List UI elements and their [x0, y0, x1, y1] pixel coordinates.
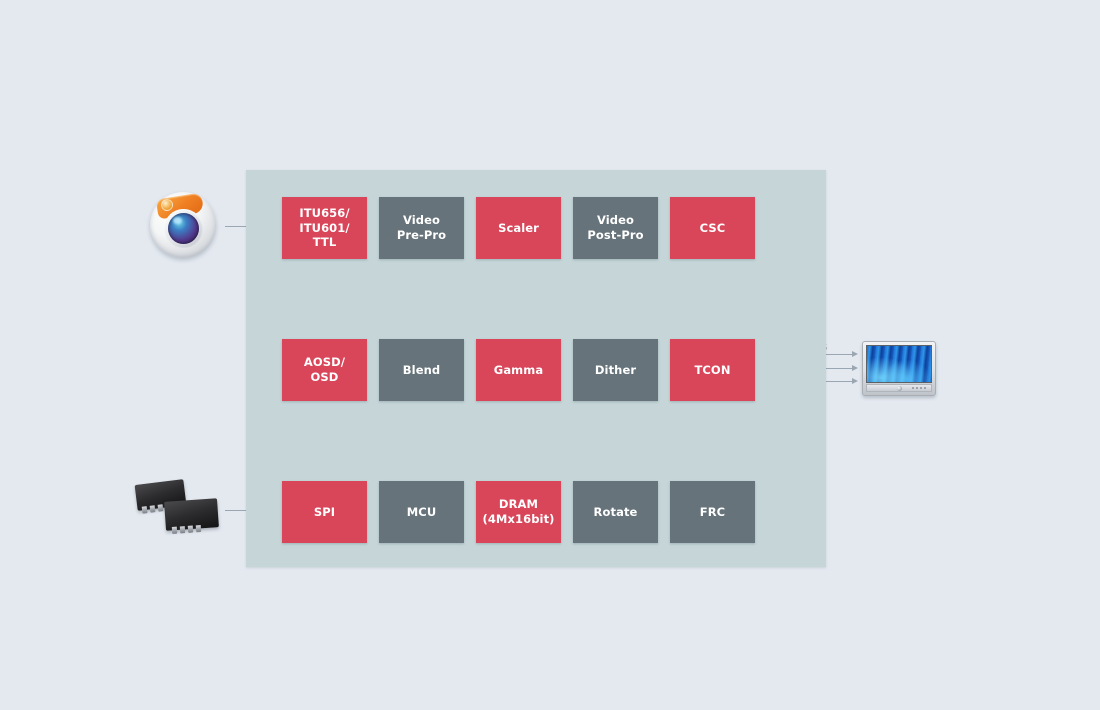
monitor-indicator-leds	[912, 387, 926, 389]
camera-power-dot-icon	[161, 199, 173, 211]
block-label: Video Pre-Pro	[397, 213, 446, 242]
block-label: Scaler	[498, 221, 539, 236]
block-label: DRAM (4Mx16bit)	[482, 497, 554, 526]
monitor-led	[924, 387, 926, 389]
monitor-led	[920, 387, 922, 389]
monitor-led	[916, 387, 918, 389]
block-scaler[interactable]: Scaler	[476, 197, 561, 259]
camera-icon	[150, 192, 216, 258]
block-label: Blend	[403, 363, 440, 378]
block-label: SPI	[314, 505, 335, 520]
output-arrow-head-lvds	[852, 351, 858, 357]
block-gamma[interactable]: Gamma	[476, 339, 561, 401]
block-label: AOSD/ OSD	[304, 355, 345, 384]
block-spi[interactable]: SPI	[282, 481, 367, 543]
ic-leg	[172, 527, 177, 534]
block-label: Video Post-Pro	[587, 213, 643, 242]
block-video-post-pro[interactable]: Video Post-Pro	[573, 197, 658, 259]
block-dither[interactable]: Dither	[573, 339, 658, 401]
ic-leg	[150, 505, 156, 513]
block-label: CSC	[700, 221, 726, 236]
monitor-screen	[866, 345, 932, 383]
chip-panel: ITU656/ ITU601/ TTL Video Pre-Pro Scaler…	[246, 170, 826, 567]
ic-chip-front-legs	[172, 525, 201, 534]
camera-lens	[168, 213, 199, 244]
output-arrow-head-mipi	[852, 365, 858, 371]
block-label: FRC	[700, 505, 725, 520]
block-rotate[interactable]: Rotate	[573, 481, 658, 543]
block-row-1: ITU656/ ITU601/ TTL Video Pre-Pro Scaler…	[282, 197, 755, 259]
block-video-pre-pro[interactable]: Video Pre-Pro	[379, 197, 464, 259]
block-mcu[interactable]: MCU	[379, 481, 464, 543]
output-arrow-head-ttl	[852, 378, 858, 384]
block-tcon[interactable]: TCON	[670, 339, 755, 401]
ic-leg	[180, 526, 185, 533]
ic-leg	[188, 526, 193, 533]
block-label: MCU	[407, 505, 437, 520]
block-blend[interactable]: Blend	[379, 339, 464, 401]
ic-leg	[158, 504, 164, 512]
block-label: TCON	[694, 363, 730, 378]
ic-leg	[142, 506, 148, 514]
ic-chips-icon	[132, 478, 228, 540]
block-label: Gamma	[494, 363, 543, 378]
block-label: ITU656/ ITU601/ TTL	[299, 206, 349, 250]
block-label: Dither	[595, 363, 636, 378]
block-frc[interactable]: FRC	[670, 481, 755, 543]
monitor-led	[912, 387, 914, 389]
monitor-control-bar	[866, 384, 932, 392]
block-label: Rotate	[594, 505, 638, 520]
monitor-display-icon	[862, 341, 936, 396]
monitor-power-button-icon	[897, 386, 902, 391]
ic-leg	[196, 525, 201, 532]
block-row-2: AOSD/ OSD Blend Gamma Dither TCON	[282, 339, 755, 401]
block-aosd-osd[interactable]: AOSD/ OSD	[282, 339, 367, 401]
block-csc[interactable]: CSC	[670, 197, 755, 259]
block-dram[interactable]: DRAM (4Mx16bit)	[476, 481, 561, 543]
camera-lens-glint	[173, 217, 182, 224]
block-itu656-itu601-ttl[interactable]: ITU656/ ITU601/ TTL	[282, 197, 367, 259]
block-row-3: SPI MCU DRAM (4Mx16bit) Rotate FRC	[282, 481, 755, 543]
